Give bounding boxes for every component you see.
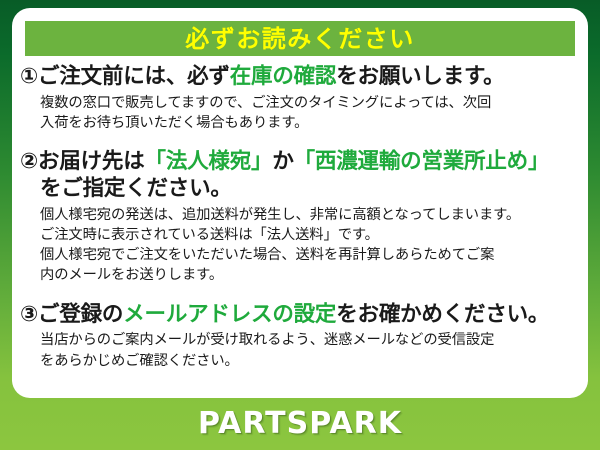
footer-bar: PARTSPARK — [0, 398, 600, 450]
notice-body-2-line-2: ご注文時に表示されている送料は「法人送料」です。 — [40, 225, 578, 245]
notice-heading-1-highlight: 在庫の確認 — [230, 64, 337, 89]
notice-item-2: ②お届け先は「法人様宛」か「西濃運輸の営業所止め」をご指定ください。 個人様宅宛… — [12, 149, 588, 286]
notice-heading-3: ③ご登録のメールアドレスの設定をお確かめください。 — [20, 302, 578, 329]
notice-heading-1-text-after: をお願いします。 — [336, 64, 504, 89]
notice-heading-2-highlight-1: 「法人様宛」 — [145, 149, 273, 174]
notice-heading-3-highlight: メールアドレスの設定 — [123, 302, 336, 327]
notice-body-3-line-2: をあらかじめご確認ください。 — [40, 351, 578, 371]
notice-marker-2: ② — [20, 149, 38, 174]
notice-body-2: 個人様宅宛の発送は、追加送料が発生し、非常に高額となってしまいます。 ご注文時に… — [40, 205, 578, 286]
notice-body-1-line-1: 複数の窓口で販売してますので、ご注文のタイミングによっては、次回 — [40, 93, 578, 113]
notice-body-2-line-3: 個人様宅宛でご注文をいただいた場合、送料を再計算しあらためてご案 — [40, 245, 578, 265]
notice-marker-3: ③ — [20, 302, 38, 327]
notice-body-3-line-1: 当店からのご案内メールが受け取れるよう、迷惑メールなどの受信設定 — [40, 330, 578, 350]
notice-body-2-line-4: 内のメールをお送りします。 — [40, 265, 578, 285]
notice-marker-1: ① — [20, 64, 38, 89]
notice-heading-1: ①ご注文前には、必ず在庫の確認をお願いします。 — [20, 64, 578, 91]
notice-list: ①ご注文前には、必ず在庫の確認をお願いします。 複数の窓口で販売してますので、ご… — [12, 64, 588, 371]
brand-logo: PARTSPARK — [198, 409, 402, 439]
notice-heading-3-text-after: をお確かめください。 — [336, 302, 549, 327]
notice-body-2-line-1: 個人様宅宛の発送は、追加送料が発生し、非常に高額となってしまいます。 — [40, 205, 578, 225]
notice-body-1-line-2: 入荷をお待ち頂いただく場合もあります。 — [40, 113, 578, 133]
page-title: 必ずお読みください — [185, 27, 415, 51]
notice-heading-2: ②お届け先は「法人様宛」か「西濃運輸の営業所止め」をご指定ください。 — [20, 149, 578, 202]
notice-heading-2-highlight-2: 「西濃運輸の営業所止め」 — [294, 149, 550, 174]
notice-heading-3-text-before: ご登録の — [38, 302, 123, 327]
notice-card: 必ずお読みください ①ご注文前には、必ず在庫の確認をお願いします。 複数の窓口で… — [12, 8, 588, 398]
notice-heading-2-line-2: をご指定ください。 — [40, 176, 578, 203]
header-bar: 必ずお読みください — [25, 21, 575, 56]
notice-heading-1-text-before: ご注文前には、必ず — [38, 64, 230, 89]
notice-heading-2-text-middle: か — [272, 149, 293, 174]
notice-heading-2-text-before: お届け先は — [38, 149, 145, 174]
notice-banner: 必ずお読みください ①ご注文前には、必ず在庫の確認をお願いします。 複数の窓口で… — [0, 0, 600, 450]
notice-body-3: 当店からのご案内メールが受け取れるよう、迷惑メールなどの受信設定 をあらかじめご… — [40, 330, 578, 371]
notice-item-1: ①ご注文前には、必ず在庫の確認をお願いします。 複数の窓口で販売してますので、ご… — [12, 64, 588, 133]
notice-item-3: ③ご登録のメールアドレスの設定をお確かめください。 当店からのご案内メールが受け… — [12, 302, 588, 371]
notice-body-1: 複数の窓口で販売してますので、ご注文のタイミングによっては、次回 入荷をお待ち頂… — [40, 93, 578, 134]
